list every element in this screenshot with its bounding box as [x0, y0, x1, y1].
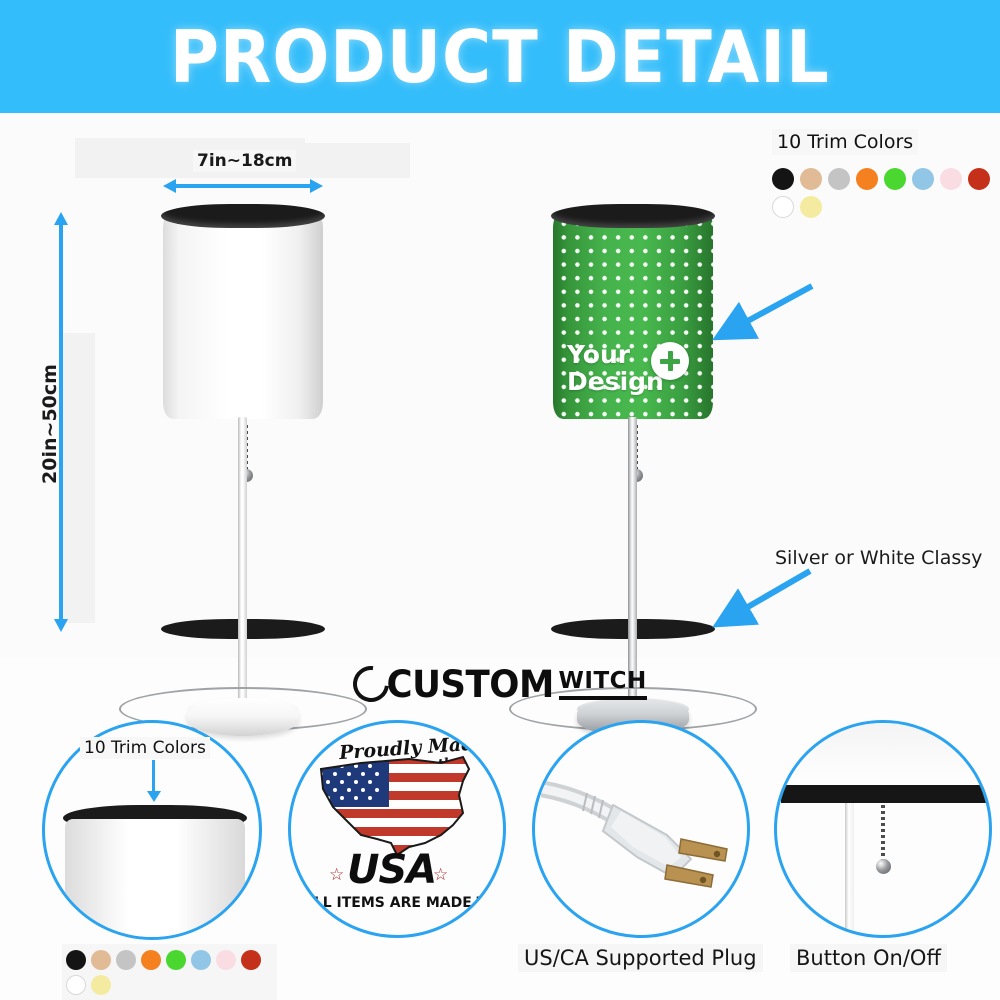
trim-swatch-9[interactable] — [91, 975, 111, 995]
shade-surface — [163, 211, 323, 419]
trim-ring-closeup — [781, 785, 991, 803]
trim-swatch-0[interactable] — [66, 950, 86, 970]
product-detail-infographic: PRODUCT DETAIL 7in~18cm 20in~50cm — [0, 0, 1000, 1000]
usa-map-flag-icon — [313, 751, 489, 861]
star-left-icon: ☆ — [329, 865, 344, 885]
trim-swatch-4[interactable] — [884, 168, 906, 190]
trim-swatch-1[interactable] — [91, 950, 111, 970]
trim-swatch-7[interactable] — [968, 168, 990, 190]
trim-swatch-8[interactable] — [66, 975, 86, 995]
arrow-bar — [171, 184, 315, 188]
panel-switch: Button On/Off — [762, 712, 1000, 1000]
trim-colors-title: 10 Trim Colors — [772, 129, 918, 155]
lamp-left-blank — [163, 211, 363, 631]
trim-swatch-6[interactable] — [940, 168, 962, 190]
panel-trim-colors: 10 Trim Colors — [20, 712, 270, 1000]
trim-swatch-5[interactable] — [912, 168, 934, 190]
page-title: PRODUCT DETAIL — [170, 15, 830, 99]
your-design-text: Your Design — [567, 341, 707, 395]
lampshade-green: Your Design — [553, 211, 713, 419]
lampshade-white — [163, 211, 323, 419]
brand-logo: CUSTOM WITCH — [0, 660, 1000, 708]
made-in-usa-badge: Proudly Made in the — [288, 720, 506, 938]
trim-swatch-8[interactable] — [772, 196, 794, 218]
trim-pointer-arrow — [147, 760, 161, 802]
width-dimension-label: 7in~18cm — [193, 150, 296, 172]
trim-swatch-9[interactable] — [800, 196, 822, 218]
trim-ring-top — [551, 204, 715, 228]
header-banner: PRODUCT DETAIL — [0, 0, 1000, 113]
panel-switch-caption: Button On/Off — [790, 944, 947, 972]
shade-closeup — [65, 819, 245, 940]
trim-swatch-2[interactable] — [116, 950, 136, 970]
logo-primary-text: CUSTOM — [387, 663, 554, 706]
arrow-head — [147, 791, 161, 802]
design-line-1: Your — [567, 340, 630, 369]
arrow-bar — [152, 760, 155, 792]
trim-swatch-list[interactable] — [772, 168, 1000, 218]
switch-photo — [774, 720, 992, 938]
base-finish-arrow — [700, 563, 820, 638]
star-right-icon: ☆ — [433, 865, 448, 885]
main-stage: 7in~18cm 20in~50cm — [0, 113, 1000, 658]
lamp-pole-closeup — [845, 803, 854, 938]
plus-icon[interactable] — [651, 342, 689, 380]
panel-made-in-usa: Proudly Made in the — [278, 712, 514, 1000]
height-dimension-label: 20in~50cm — [39, 349, 61, 499]
trim-swatch-list-bottom[interactable] — [62, 944, 277, 1000]
badge-footer-text: ALL ITEMS ARE MADE TO ORDER! — [303, 895, 506, 911]
badge-usa-text: USA — [347, 847, 436, 893]
trim-swatch-0[interactable] — [772, 168, 794, 190]
pull-chain-closeup[interactable] — [881, 805, 885, 863]
trim-swatch-3[interactable] — [141, 950, 161, 970]
trim-swatch-1[interactable] — [800, 168, 822, 190]
design-line-2: Design — [567, 368, 707, 395]
feature-panels: 10 Trim Colors Proudly Made in the — [0, 712, 1000, 1000]
trim-swatch-6[interactable] — [216, 950, 236, 970]
arrow-head-right — [310, 179, 323, 193]
shade-bottom-closeup — [777, 723, 989, 787]
trim-swatch-7[interactable] — [241, 950, 261, 970]
pull-chain-ball-closeup[interactable] — [876, 859, 891, 874]
bg-patch — [300, 143, 410, 178]
trim-swatch-4[interactable] — [166, 950, 186, 970]
trim-swatch-2[interactable] — [828, 168, 850, 190]
width-dimension-arrow — [163, 179, 323, 193]
panel-plug-caption: US/CA Supported Plug — [518, 944, 763, 972]
plug-photo — [532, 720, 750, 938]
logo-secondary-text: WITCH — [559, 668, 647, 700]
trim-ring-top — [161, 204, 325, 228]
arrow-head-bottom — [54, 619, 68, 632]
trim-colors-block: 10 Trim Colors — [772, 129, 1000, 218]
trim-swatch-5[interactable] — [191, 950, 211, 970]
trim-swatch-3[interactable] — [856, 168, 878, 190]
panel-trim-colors-caption: 10 Trim Colors — [80, 737, 210, 759]
power-plug-icon — [541, 761, 747, 901]
trim-callout-arrow — [690, 278, 820, 353]
panel-plug: US/CA Supported Plug — [518, 712, 764, 1000]
